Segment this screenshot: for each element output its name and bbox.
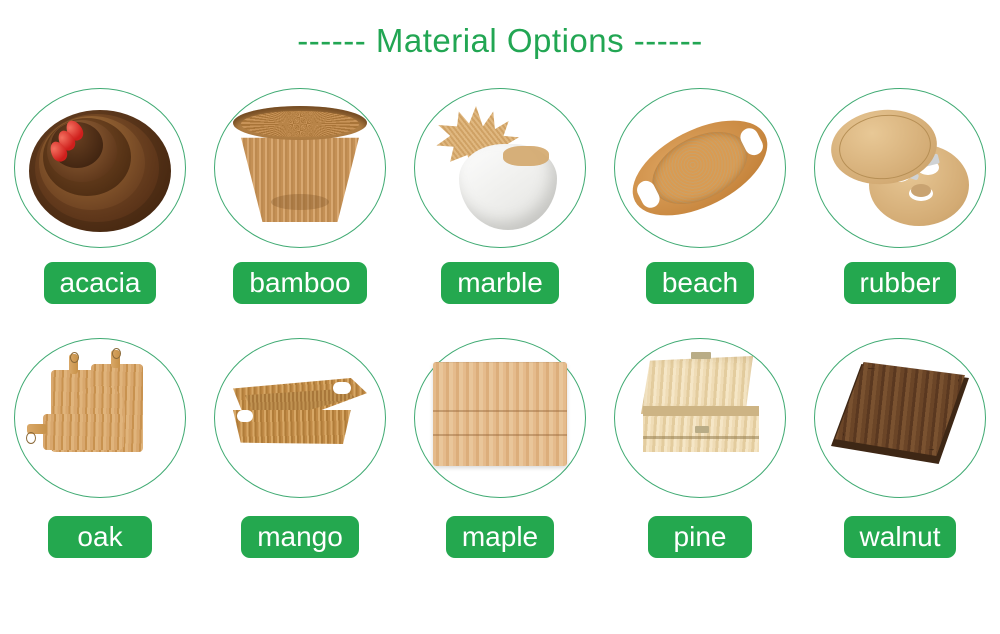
material-card-beach[interactable]: beach xyxy=(600,88,800,304)
rubber-image xyxy=(825,98,975,238)
beach-image xyxy=(625,98,775,238)
image-frame-marble xyxy=(414,88,586,248)
material-card-walnut[interactable]: walnut xyxy=(800,338,1000,558)
material-card-acacia[interactable]: acacia xyxy=(0,88,200,304)
material-label-oak[interactable]: oak xyxy=(48,516,152,558)
image-frame-acacia xyxy=(14,88,186,248)
acacia-image xyxy=(25,98,175,238)
mango-image xyxy=(225,348,375,488)
image-frame-beach xyxy=(614,88,786,248)
material-card-rubber[interactable]: rubber xyxy=(800,88,1000,304)
oak-image xyxy=(25,348,175,488)
bamboo-image xyxy=(225,98,375,238)
pine-image xyxy=(625,348,775,488)
image-frame-mango xyxy=(214,338,386,498)
walnut-image xyxy=(825,348,975,488)
material-label-marble[interactable]: marble xyxy=(441,262,559,304)
material-options-page: ------ Material Options ------ acacia xyxy=(0,0,1000,634)
material-label-bamboo[interactable]: bamboo xyxy=(233,262,366,304)
material-label-walnut[interactable]: walnut xyxy=(844,516,957,558)
image-frame-bamboo xyxy=(214,88,386,248)
material-card-oak[interactable]: oak xyxy=(0,338,200,558)
material-row-1: acacia bamboo m xyxy=(0,88,1000,304)
material-label-rubber[interactable]: rubber xyxy=(844,262,957,304)
material-label-acacia[interactable]: acacia xyxy=(44,262,157,304)
marble-image xyxy=(425,98,575,238)
image-frame-oak xyxy=(14,338,186,498)
material-label-pine[interactable]: pine xyxy=(648,516,752,558)
material-label-maple[interactable]: maple xyxy=(446,516,554,558)
image-frame-pine xyxy=(614,338,786,498)
material-label-mango[interactable]: mango xyxy=(241,516,359,558)
material-label-beach[interactable]: beach xyxy=(646,262,754,304)
material-card-maple[interactable]: maple xyxy=(400,338,600,558)
material-card-marble[interactable]: marble xyxy=(400,88,600,304)
material-row-2: oak mango xyxy=(0,338,1000,558)
image-frame-walnut xyxy=(814,338,986,498)
material-card-pine[interactable]: pine xyxy=(600,338,800,558)
material-card-bamboo[interactable]: bamboo xyxy=(200,88,400,304)
page-title: ------ Material Options ------ xyxy=(0,22,1000,60)
image-frame-rubber xyxy=(814,88,986,248)
maple-image xyxy=(425,348,575,488)
material-card-mango[interactable]: mango xyxy=(200,338,400,558)
image-frame-maple xyxy=(414,338,586,498)
